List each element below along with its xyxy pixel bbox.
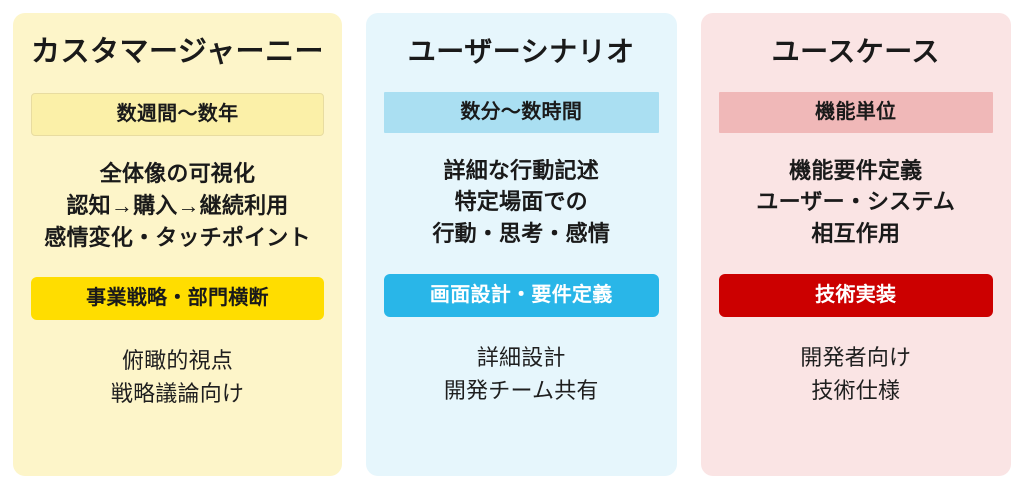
duration-badge: 数分〜数時間	[384, 92, 659, 133]
duration-badge: 機能単位	[719, 92, 994, 133]
accent-badge: 画面設計・要件定義	[384, 274, 659, 317]
description-block: 機能要件定義 ユーザー・システム 相互作用	[756, 155, 955, 251]
footer-block: 詳細設計 開発チーム共有	[444, 341, 599, 407]
footer-line: 詳細設計	[444, 341, 599, 374]
footer-line: 俯瞰的視点	[111, 344, 244, 377]
description-line: 相互作用	[756, 218, 955, 250]
description-line: 全体像の可視化	[44, 158, 310, 190]
card-title: カスタマージャーニー	[31, 35, 324, 70]
footer-line: 開発者向け	[800, 341, 911, 374]
card-customer-journey: カスタマージャーニー 数週間〜数年 全体像の可視化 認知→購入→継続利用 感情変…	[13, 13, 342, 476]
card-use-case: ユースケース 機能単位 機能要件定義 ユーザー・システム 相互作用 技術実装 開…	[701, 13, 1012, 476]
description-line: 感情変化・タッチポイント	[44, 222, 310, 254]
description-line: 認知→購入→継続利用	[44, 190, 310, 222]
footer-block: 俯瞰的視点 戦略議論向け	[111, 344, 244, 410]
accent-badge: 事業戦略・部門横断	[31, 277, 324, 320]
duration-badge: 数週間〜数年	[31, 93, 324, 136]
description-line: 詳細な行動記述	[432, 155, 610, 187]
footer-line: 戦略議論向け	[111, 377, 244, 410]
footer-block: 開発者向け 技術仕様	[800, 341, 911, 407]
description-block: 全体像の可視化 認知→購入→継続利用 感情変化・タッチポイント	[44, 158, 310, 254]
description-line: 特定場面での	[432, 186, 610, 218]
description-block: 詳細な行動記述 特定場面での 行動・思考・感情	[432, 155, 610, 251]
accent-badge: 技術実装	[719, 274, 994, 317]
footer-line: 開発チーム共有	[444, 374, 599, 407]
card-title: ユースケース	[772, 35, 940, 69]
footer-line: 技術仕様	[800, 374, 911, 407]
description-line: 行動・思考・感情	[432, 218, 610, 250]
card-title: ユーザーシナリオ	[408, 35, 635, 69]
card-user-scenario: ユーザーシナリオ 数分〜数時間 詳細な行動記述 特定場面での 行動・思考・感情 …	[366, 13, 677, 476]
comparison-cards-container: カスタマージャーニー 数週間〜数年 全体像の可視化 認知→購入→継続利用 感情変…	[0, 0, 1024, 489]
description-line: ユーザー・システム	[756, 186, 955, 218]
description-line: 機能要件定義	[756, 155, 955, 187]
